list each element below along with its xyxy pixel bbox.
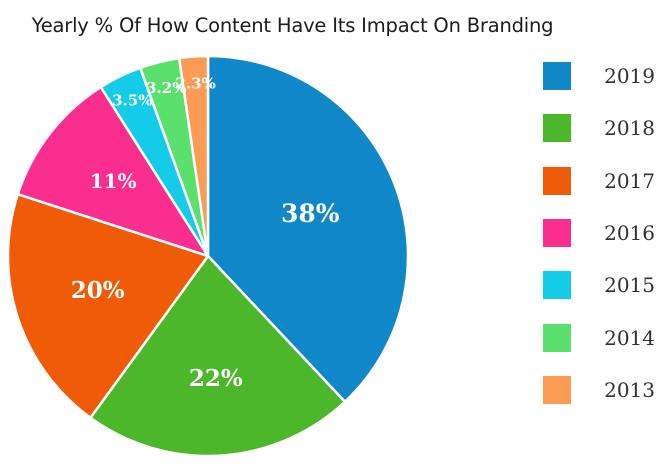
legend-label-2015: 2015 — [571, 268, 658, 302]
legend-item-2014[interactable]: 2014 — [520, 321, 658, 355]
legend-label-2017: 2017 — [571, 164, 658, 198]
pie-svg: 38%22%20%11%3.5%3.2%2.3% — [0, 0, 470, 470]
pie-plot-area: 38%22%20%11%3.5%3.2%2.3% — [0, 0, 470, 470]
pie-slice-label-2016: 11% — [90, 169, 137, 193]
legend-item-2018[interactable]: 2018 — [520, 111, 658, 145]
pie-slice-label-2019: 38% — [281, 199, 340, 228]
pie-slice-label-2017: 20% — [71, 277, 125, 304]
legend-item-2015[interactable]: 2015 — [520, 268, 658, 302]
legend-item-2017[interactable]: 2017 — [520, 164, 658, 198]
legend-swatch-2017 — [543, 167, 571, 195]
legend-swatch-2014 — [543, 324, 571, 352]
legend-item-2013[interactable]: 2013 — [520, 373, 658, 407]
legend-swatch-2018 — [543, 114, 571, 142]
legend-swatch-2016 — [543, 219, 571, 247]
legend-swatch-2013 — [543, 376, 571, 404]
pie-chart-figure: Yearly % Of How Content Have Its Impact … — [0, 0, 658, 470]
legend-label-2013: 2013 — [571, 373, 658, 407]
legend-label-2018: 2018 — [571, 111, 658, 145]
legend-item-2019[interactable]: 2019 — [520, 59, 658, 93]
legend-item-2016[interactable]: 2016 — [520, 216, 658, 250]
legend-label-2016: 2016 — [571, 216, 658, 250]
pie-slice-label-2018: 22% — [189, 365, 243, 392]
pie-slice-label-2013: 2.3% — [175, 74, 215, 92]
chart-legend: 2019201820172016201520142013 — [520, 0, 658, 470]
pie-slice-group — [8, 56, 408, 456]
legend-label-2019: 2019 — [571, 59, 658, 93]
legend-swatch-2015 — [543, 271, 571, 299]
legend-label-2014: 2014 — [571, 321, 658, 355]
legend-swatch-2019 — [543, 62, 571, 90]
